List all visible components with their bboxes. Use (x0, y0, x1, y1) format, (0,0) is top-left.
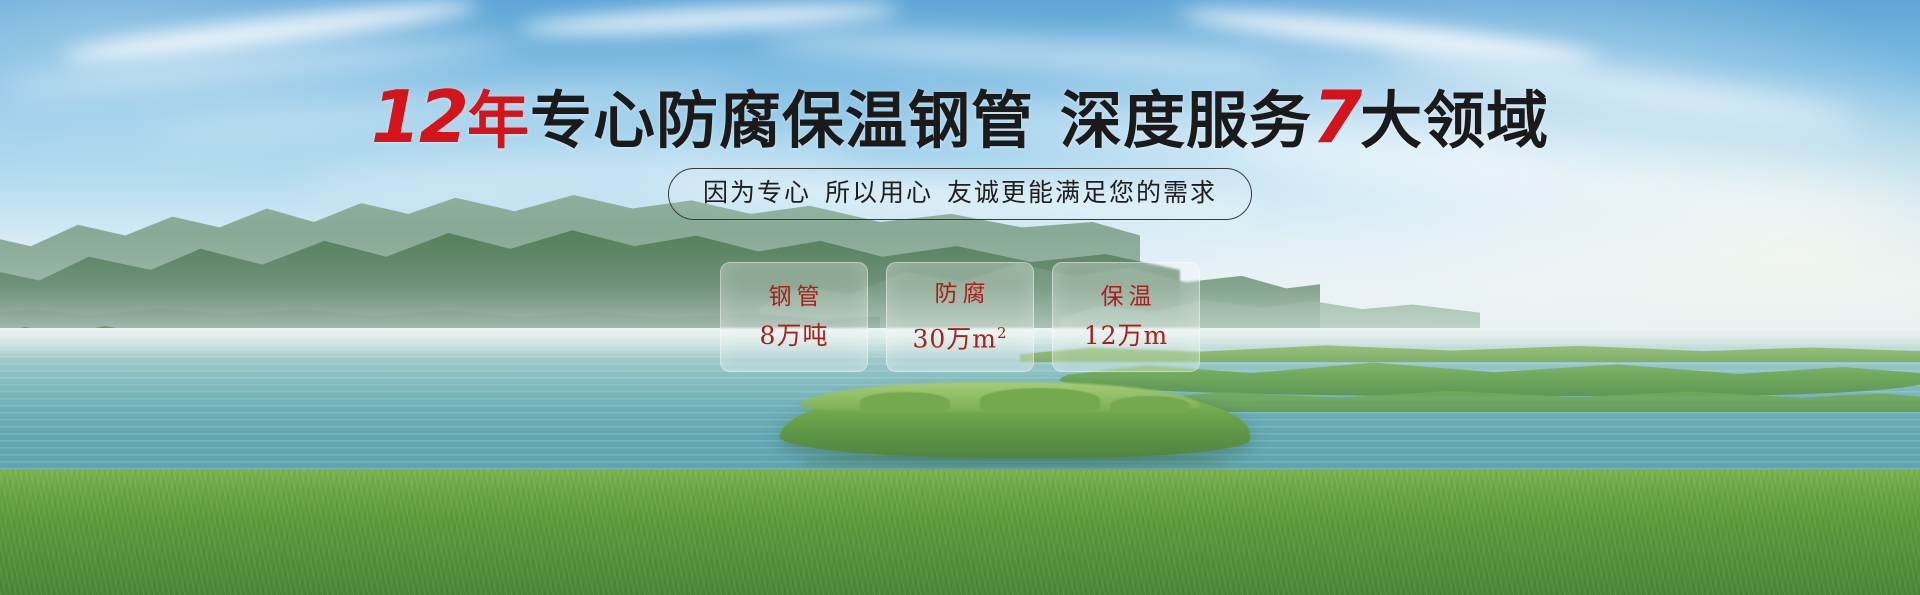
banner-content: 12年专心防腐保温钢管深度服务7大领域 因为专心所以用心友诚更能满足您的需求 钢… (0, 0, 1920, 595)
hero-banner: 12年专心防腐保温钢管深度服务7大领域 因为专心所以用心友诚更能满足您的需求 钢… (0, 0, 1920, 595)
stat-card-label: 钢管 (764, 284, 825, 310)
stat-card-insulation[interactable]: 保温 12万m (1052, 262, 1200, 372)
headline-years-suffix: 年 (467, 84, 530, 157)
stat-value-superscript: 2 (997, 324, 1008, 342)
headline-part-two: 深度服务 (1060, 84, 1312, 157)
subtitle-segment-three: 友诚更能满足您的需求 (947, 178, 1217, 207)
headline-fields-number: 7 (1312, 75, 1360, 159)
headline-part-one: 专心防腐保温钢管 (530, 84, 1034, 157)
headline-years-number: 12 (371, 75, 467, 159)
stat-card-value: 8万吨 (760, 322, 829, 350)
subtitle-segment-two: 所以用心 (825, 178, 933, 207)
stat-card-steel-pipe[interactable]: 钢管 8万吨 (720, 262, 868, 372)
stat-card-group: 钢管 8万吨 防腐 30万m2 保温 12万m (0, 262, 1920, 372)
stat-card-label: 保温 (1096, 284, 1157, 310)
headline-part-three: 大领域 (1360, 84, 1549, 157)
stat-card-anticorrosion[interactable]: 防腐 30万m2 (886, 262, 1034, 372)
stat-value-text: 8万吨 (760, 321, 829, 350)
banner-subtitle-pill: 因为专心所以用心友诚更能满足您的需求 (668, 168, 1252, 220)
stat-value-text: 30万m (912, 324, 997, 353)
stat-value-text: 12万m (1084, 321, 1169, 350)
banner-headline: 12年专心防腐保温钢管深度服务7大领域 (0, 84, 1920, 154)
stat-card-value: 30万m2 (912, 319, 1007, 353)
stat-card-value: 12万m (1084, 322, 1169, 350)
banner-subtitle-wrapper: 因为专心所以用心友诚更能满足您的需求 (0, 168, 1920, 220)
subtitle-segment-one: 因为专心 (703, 178, 811, 207)
stat-card-label: 防腐 (930, 281, 991, 307)
